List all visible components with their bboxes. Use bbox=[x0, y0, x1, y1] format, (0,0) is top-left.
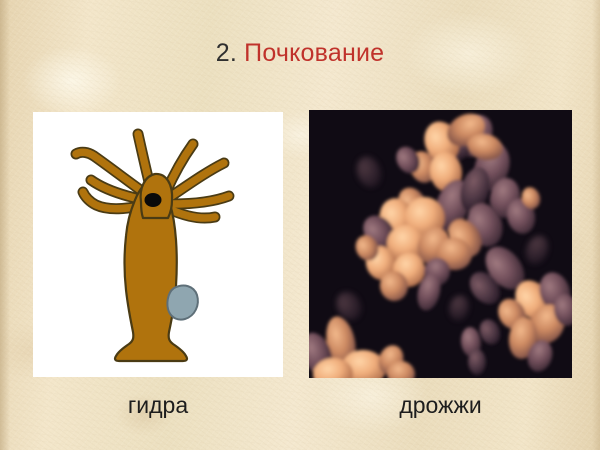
hydra-budding-illustration bbox=[33, 112, 283, 377]
yeast-budding-micrograph bbox=[309, 110, 572, 378]
yeast-figure-panel bbox=[309, 110, 572, 378]
hydra-figure-panel bbox=[33, 112, 283, 377]
title-number: 2. bbox=[216, 39, 237, 67]
slide-title: 2. Почкование bbox=[0, 38, 600, 68]
hydra-mouth-icon bbox=[145, 193, 162, 207]
caption-hydra: гидра bbox=[33, 391, 283, 419]
caption-yeast: дрожжи bbox=[309, 391, 572, 419]
hydra-bud bbox=[167, 286, 197, 320]
title-term: Почкование bbox=[244, 39, 384, 67]
slide-canvas: 2. Почкование bbox=[0, 0, 600, 450]
